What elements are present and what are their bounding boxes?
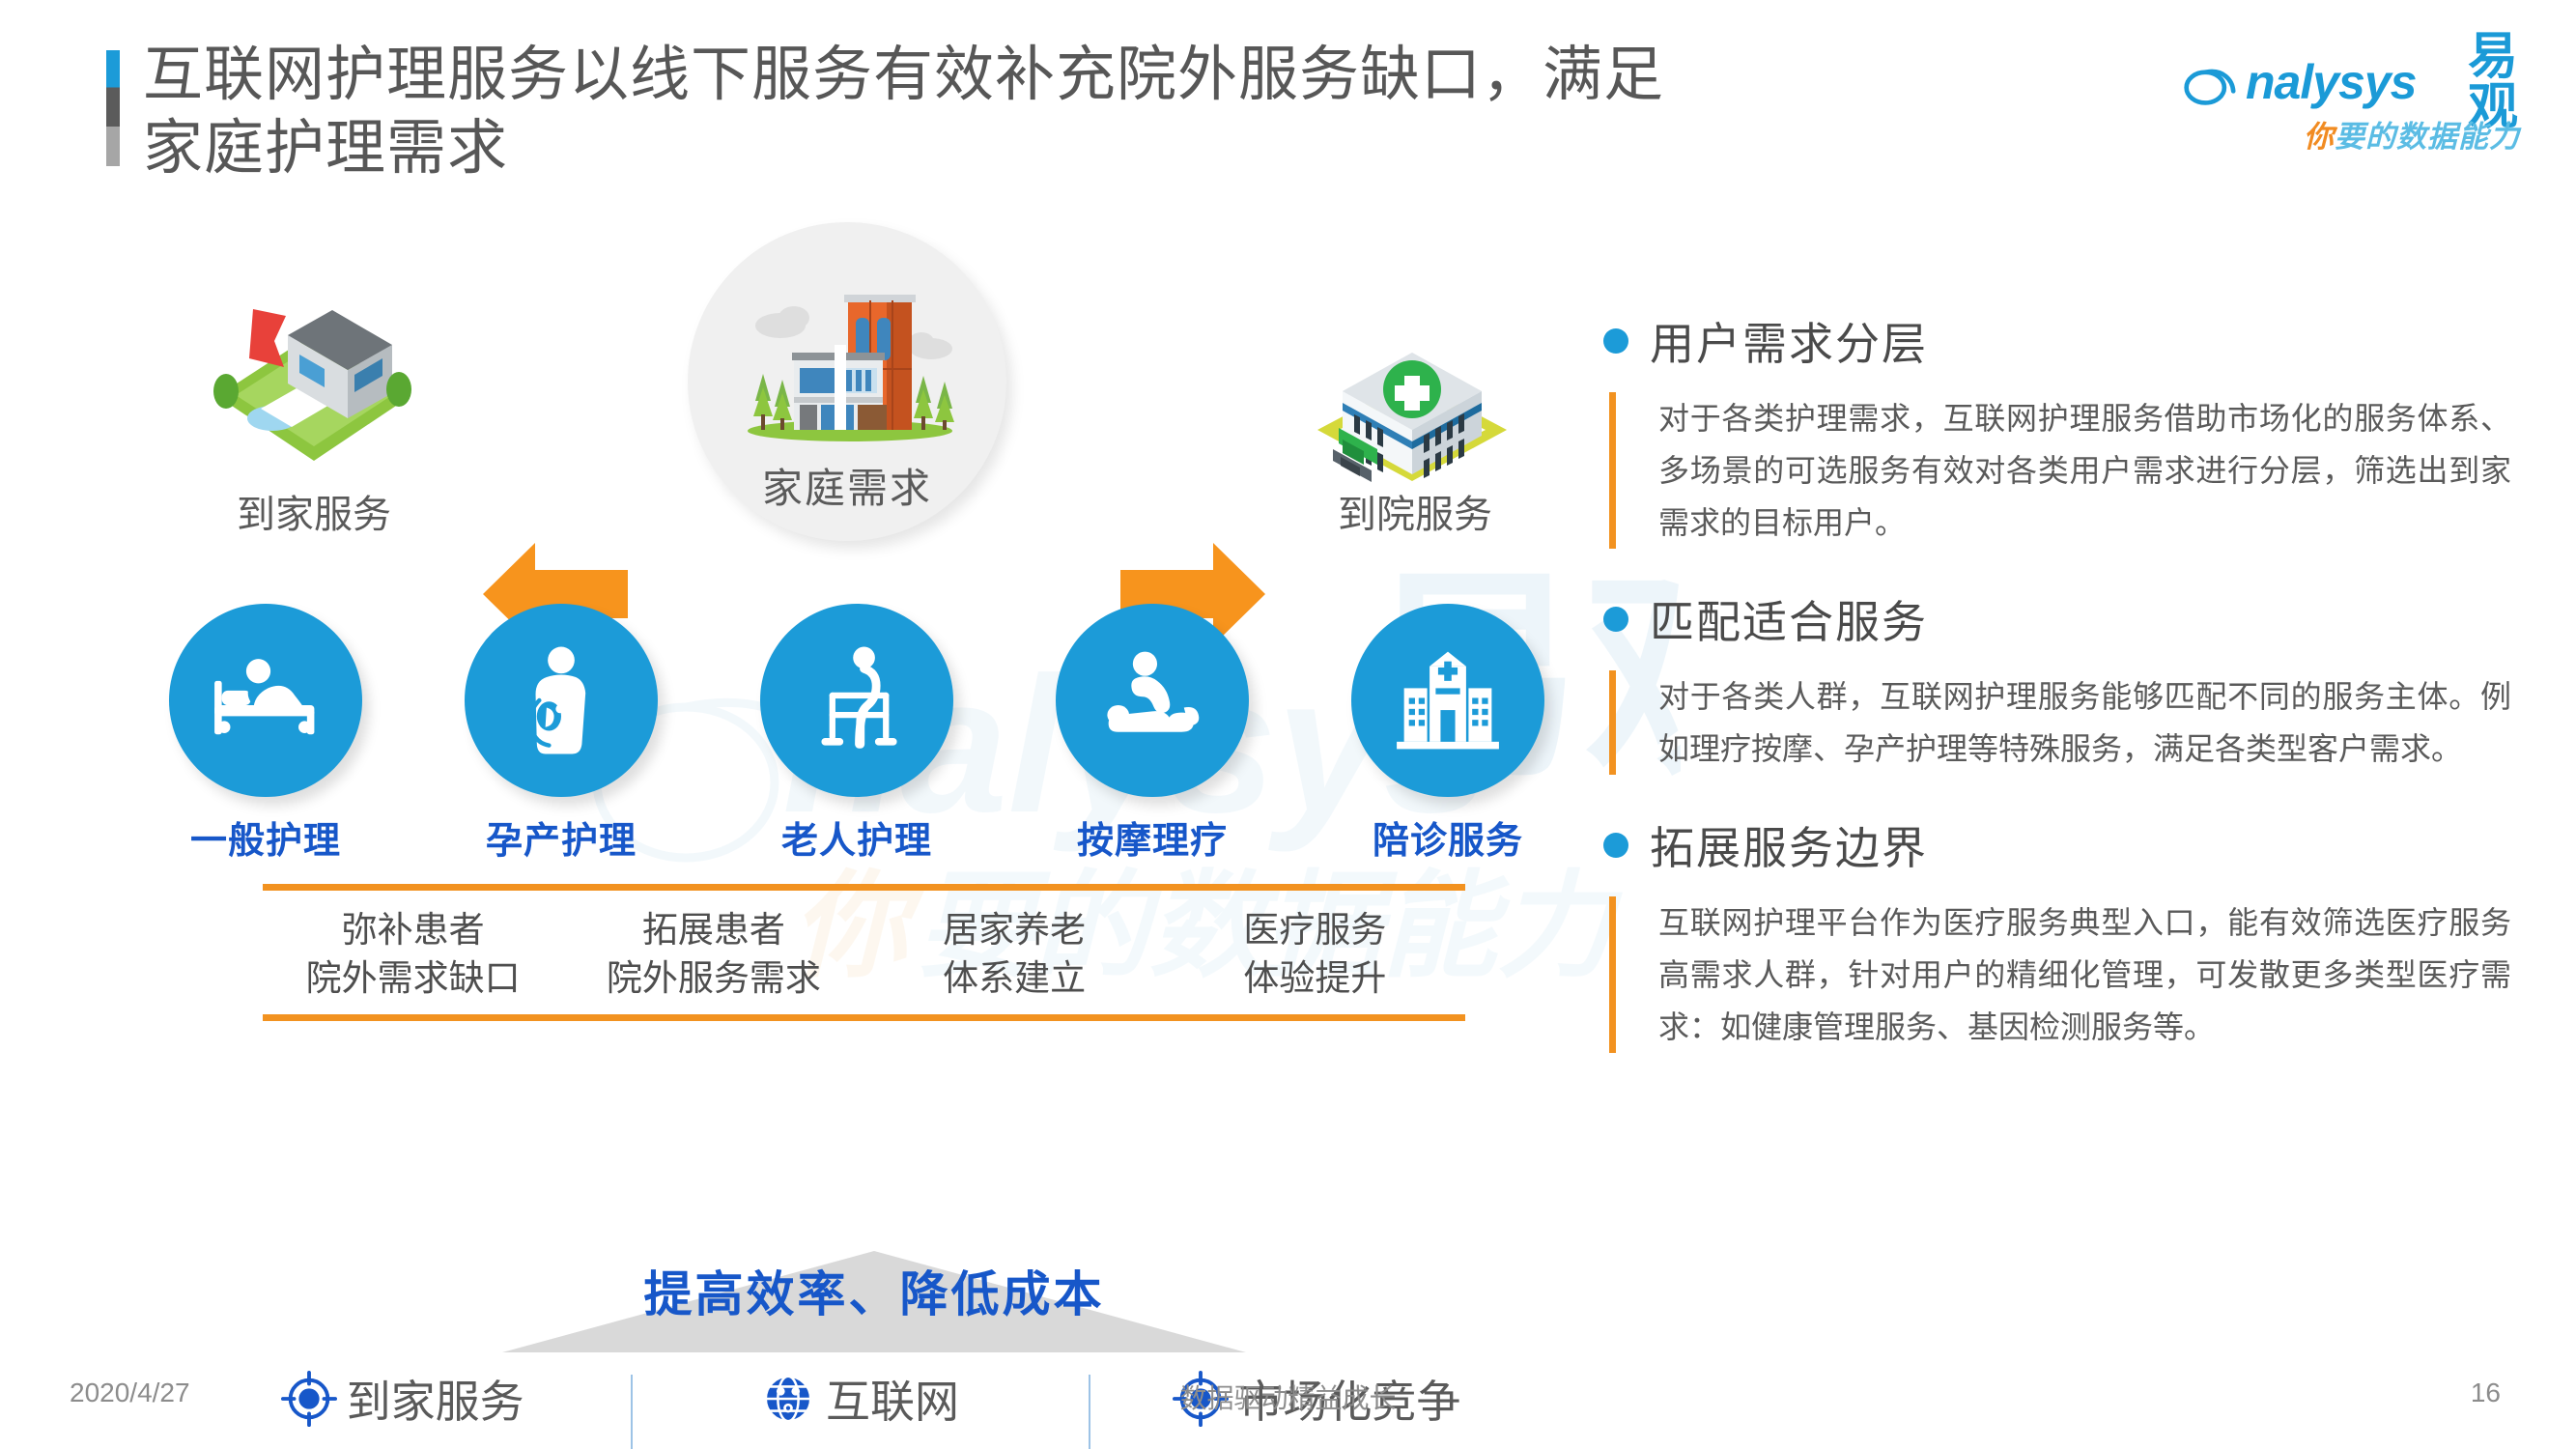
insight-title-1: 匹配适合服务 xyxy=(1650,587,1928,651)
analysys-swirl-icon xyxy=(2182,55,2236,109)
insight-head-2: 拓展服务边界 xyxy=(1603,813,2511,877)
bullet-dot-icon xyxy=(1603,607,1628,632)
insight-body-wrap-0: 对于各类护理需求，互联网护理服务借助市场化的服务体系、多场景的可选服务有效对各类… xyxy=(1603,392,2511,549)
insight-body-wrap-2: 互联网护理平台作为医疗服务典型入口，能有效筛选医疗服务高需求人群，针对用户的精细… xyxy=(1603,896,2511,1053)
benefit-col-2: 居家养老 体系建立 xyxy=(864,906,1165,1003)
logo-tagline: 你要的数据能力 xyxy=(2182,122,2520,152)
service-circle-1[interactable] xyxy=(465,604,658,797)
isometric-hospital-icon xyxy=(1304,285,1521,493)
service-circle-row: 一般护理 孕产护理 xyxy=(169,604,1545,855)
logo-tagline-first: 你 xyxy=(2304,120,2335,154)
insights-pane: 用户需求分层 对于各类护理需求，互联网护理服务借助市场化的服务体系、多场景的可选… xyxy=(1603,309,2511,1092)
home-service-label: 到家服务 xyxy=(164,483,464,539)
insight-body-2: 互联网护理平台作为医疗服务典型入口，能有效筛选医疗服务高需求人群，针对用户的精细… xyxy=(1658,896,2511,1053)
insight-block-1: 匹配适合服务 对于各类人群，互联网护理服务能够匹配不同的服务主体。例如理疗按摩、… xyxy=(1603,587,2511,775)
service-label-4: 陪诊服务 xyxy=(1351,810,1544,864)
page-title-line2: 家庭护理需求 xyxy=(143,115,508,182)
logo-primary-row: nalysys 易观 xyxy=(2182,46,2520,118)
service-circle-0[interactable] xyxy=(169,604,362,797)
page-title: 互联网护理服务以线下服务有效补充院外服务缺口，满足 家庭护理需求 xyxy=(143,39,2055,185)
slide-footer: 2020/4/27 数据驱动精益成长 16 xyxy=(0,1378,2576,1416)
service-label-0: 一般护理 xyxy=(169,810,362,864)
service-circle-4[interactable] xyxy=(1351,604,1544,797)
service-item-0[interactable]: 一般护理 xyxy=(169,604,362,864)
bullet-dot-icon xyxy=(1603,328,1628,354)
insight-body-1: 对于各类人群，互联网护理服务能够匹配不同的服务主体。例如理疗按摩、孕产护理等特殊… xyxy=(1658,670,2511,775)
insight-block-2: 拓展服务边界 互联网护理平台作为医疗服务典型入口，能有效筛选医疗服务高需求人群，… xyxy=(1603,813,2511,1053)
service-circle-2[interactable] xyxy=(760,604,953,797)
insight-accent-bar-1 xyxy=(1609,670,1616,775)
family-demand-label: 家庭需求 xyxy=(688,456,1006,515)
footer-slogan: 数据驱动精益成长 xyxy=(0,1378,2576,1416)
service-label-3: 按摩理疗 xyxy=(1056,810,1249,864)
insight-accent-bar-2 xyxy=(1609,896,1616,1053)
massage-therapy-icon xyxy=(1091,639,1213,761)
insight-body-wrap-1: 对于各类人群，互联网护理服务能够匹配不同的服务主体。例如理疗按摩、孕产护理等特殊… xyxy=(1603,670,2511,775)
insight-head-1: 匹配适合服务 xyxy=(1603,587,2511,651)
hospital-service-label: 到院服务 xyxy=(1265,483,1565,539)
insight-body-0: 对于各类护理需求，互联网护理服务借助市场化的服务体系、多场景的可选服务有效对各类… xyxy=(1658,392,2511,549)
isometric-residential-building-icon xyxy=(734,285,966,449)
service-circle-3[interactable] xyxy=(1056,604,1249,797)
benefits-top-rule xyxy=(263,884,1465,891)
service-item-4[interactable]: 陪诊服务 xyxy=(1351,604,1544,864)
logo-chinese-name: 易观 xyxy=(2425,32,2520,132)
logo-wordmark: nalysys xyxy=(2246,58,2416,106)
diagram-pane: 到家服务 xyxy=(0,203,1565,1343)
title-accent-bar xyxy=(106,50,120,166)
page-title-line1: 互联网护理服务以线下服务有效补充院外服务缺口，满足 xyxy=(143,42,1664,108)
bullet-dot-icon xyxy=(1603,833,1628,858)
insight-head-0: 用户需求分层 xyxy=(1603,309,2511,373)
footer-page-number: 16 xyxy=(2471,1378,2501,1408)
pregnant-woman-icon xyxy=(500,639,622,761)
benefits-block: 弥补患者 院外需求缺口 拓展患者 院外服务需求 居家养老 体系建立 医疗服务 体… xyxy=(263,884,1465,1021)
service-label-1: 孕产护理 xyxy=(465,810,658,864)
elderly-walker-icon xyxy=(796,639,918,761)
benefit-col-3: 医疗服务 体验提升 xyxy=(1165,906,1465,1003)
benefit-col-1: 拓展患者 院外服务需求 xyxy=(563,906,863,1003)
patient-in-bed-icon xyxy=(205,639,326,761)
slide-root: nalysys 易观 你 要的数据能力 互联网护理服务以线下服务有效补充院外服务… xyxy=(0,0,2576,1449)
benefits-grid: 弥补患者 院外需求缺口 拓展患者 院外服务需求 居家养老 体系建立 医疗服务 体… xyxy=(263,891,1465,1014)
service-label-2: 老人护理 xyxy=(760,810,953,864)
logo-tagline-rest: 要的数据能力 xyxy=(2335,120,2520,154)
insight-block-0: 用户需求分层 对于各类护理需求，互联网护理服务借助市场化的服务体系、多场景的可选… xyxy=(1603,309,2511,549)
benefit-col-0: 弥补患者 院外需求缺口 xyxy=(263,906,563,1003)
insight-title-0: 用户需求分层 xyxy=(1650,309,1928,373)
pyramid-label: 提高效率、降低成本 xyxy=(425,1256,1323,1325)
insight-accent-bar-0 xyxy=(1609,392,1616,549)
isometric-house-icon xyxy=(203,295,425,473)
service-item-1[interactable]: 孕产护理 xyxy=(465,604,658,864)
benefits-bottom-rule xyxy=(263,1014,1465,1021)
hospital-building-icon xyxy=(1387,639,1509,761)
analysys-logo: nalysys 易观 你要的数据能力 xyxy=(2182,46,2520,164)
insight-title-2: 拓展服务边界 xyxy=(1650,813,1928,877)
service-item-3[interactable]: 按摩理疗 xyxy=(1056,604,1249,864)
service-item-2[interactable]: 老人护理 xyxy=(760,604,953,864)
